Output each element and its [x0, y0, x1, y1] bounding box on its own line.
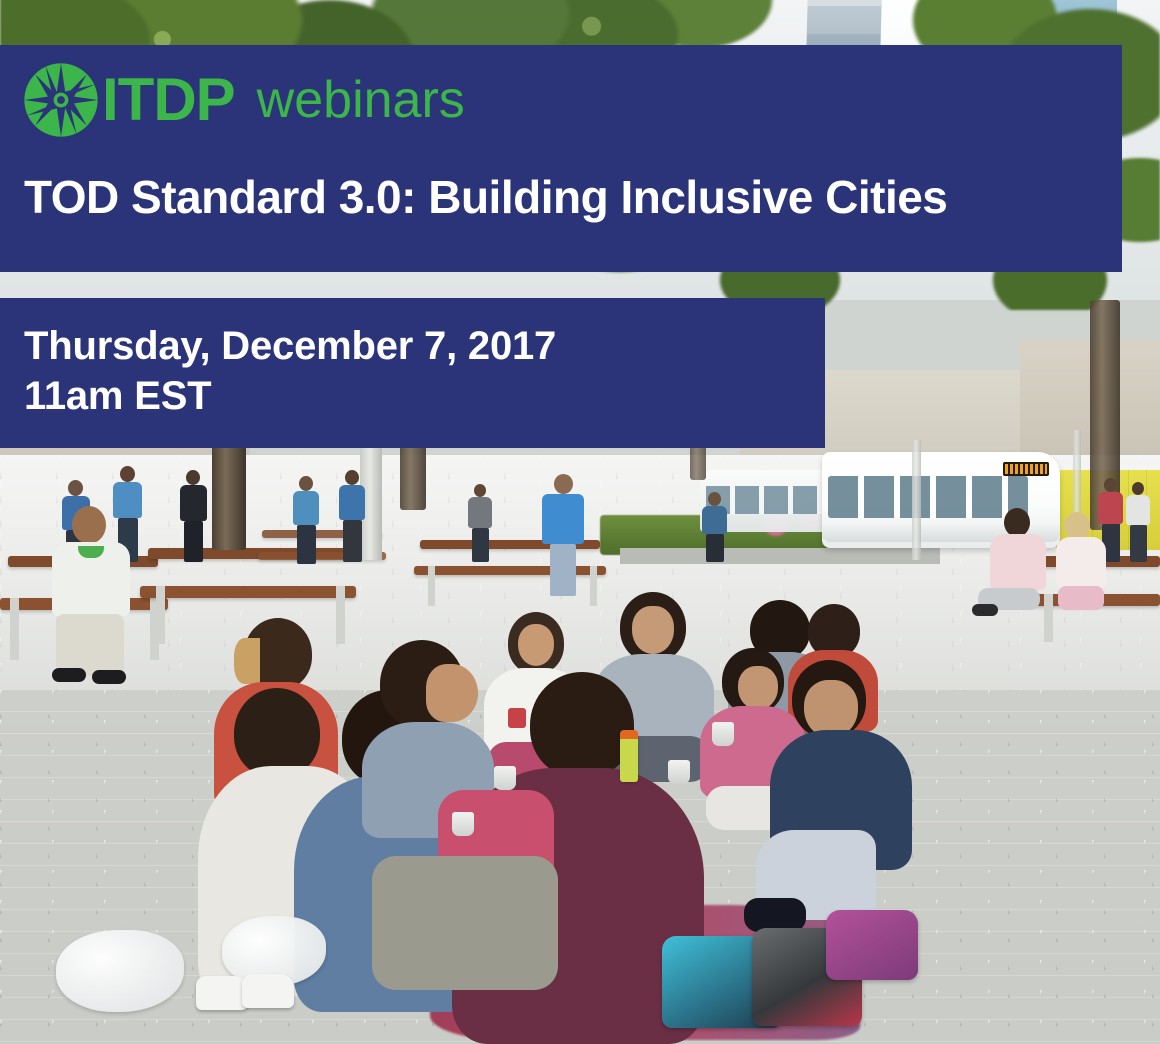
tram-destination-sign: [1003, 462, 1049, 476]
plastic-cup: [712, 722, 734, 746]
header-banner: ITDP webinars TOD Standard 3.0: Building…: [0, 45, 1122, 272]
pedestrian: [176, 470, 210, 562]
seated-person-man-navy-shirt-right: [770, 660, 920, 940]
white-sneaker: [242, 974, 294, 1008]
seated-person-grey-trousers-left: [372, 856, 562, 996]
soft-drink-bottle: [620, 730, 638, 782]
pedestrian: [1124, 482, 1152, 562]
white-sneaker: [196, 976, 248, 1010]
webinars-label: webinars: [257, 74, 465, 126]
pedestrian: [336, 470, 368, 562]
pedestrian-walking-center: [540, 474, 586, 596]
bench-leg: [10, 598, 19, 660]
webinar-time: 11am EST: [24, 374, 211, 418]
bench-leg: [156, 586, 165, 644]
seated-woman-on-bench: [1050, 512, 1116, 616]
pedestrian: [290, 476, 322, 564]
itdp-compass-star-logo-icon: [22, 61, 100, 139]
bench-seat: [140, 586, 356, 598]
date-banner: Thursday, December 7, 2017 11am EST: [0, 298, 825, 448]
webinar-date: Thursday, December 7, 2017: [24, 324, 556, 368]
sign-pole: [912, 440, 921, 560]
webinar-promo-poster: ITDP webinars TOD Standard 3.0: Building…: [0, 0, 1160, 1044]
itdp-logo-lockup: ITDP webinars: [22, 61, 465, 139]
backpack-purple: [826, 910, 918, 980]
seated-man-on-bench: [978, 508, 1056, 628]
pedestrian: [466, 484, 494, 562]
bench-leg: [428, 566, 435, 606]
page-title: TOD Standard 3.0: Building Inclusive Cit…: [24, 173, 947, 221]
plastic-cup: [452, 812, 474, 836]
itdp-wordmark: ITDP: [102, 70, 235, 130]
plastic-bag: [56, 930, 184, 1012]
seated-man-white-uniform: [48, 506, 134, 676]
plastic-cup: [668, 760, 690, 784]
plastic-cup: [494, 766, 516, 790]
pedestrian: [700, 492, 730, 562]
